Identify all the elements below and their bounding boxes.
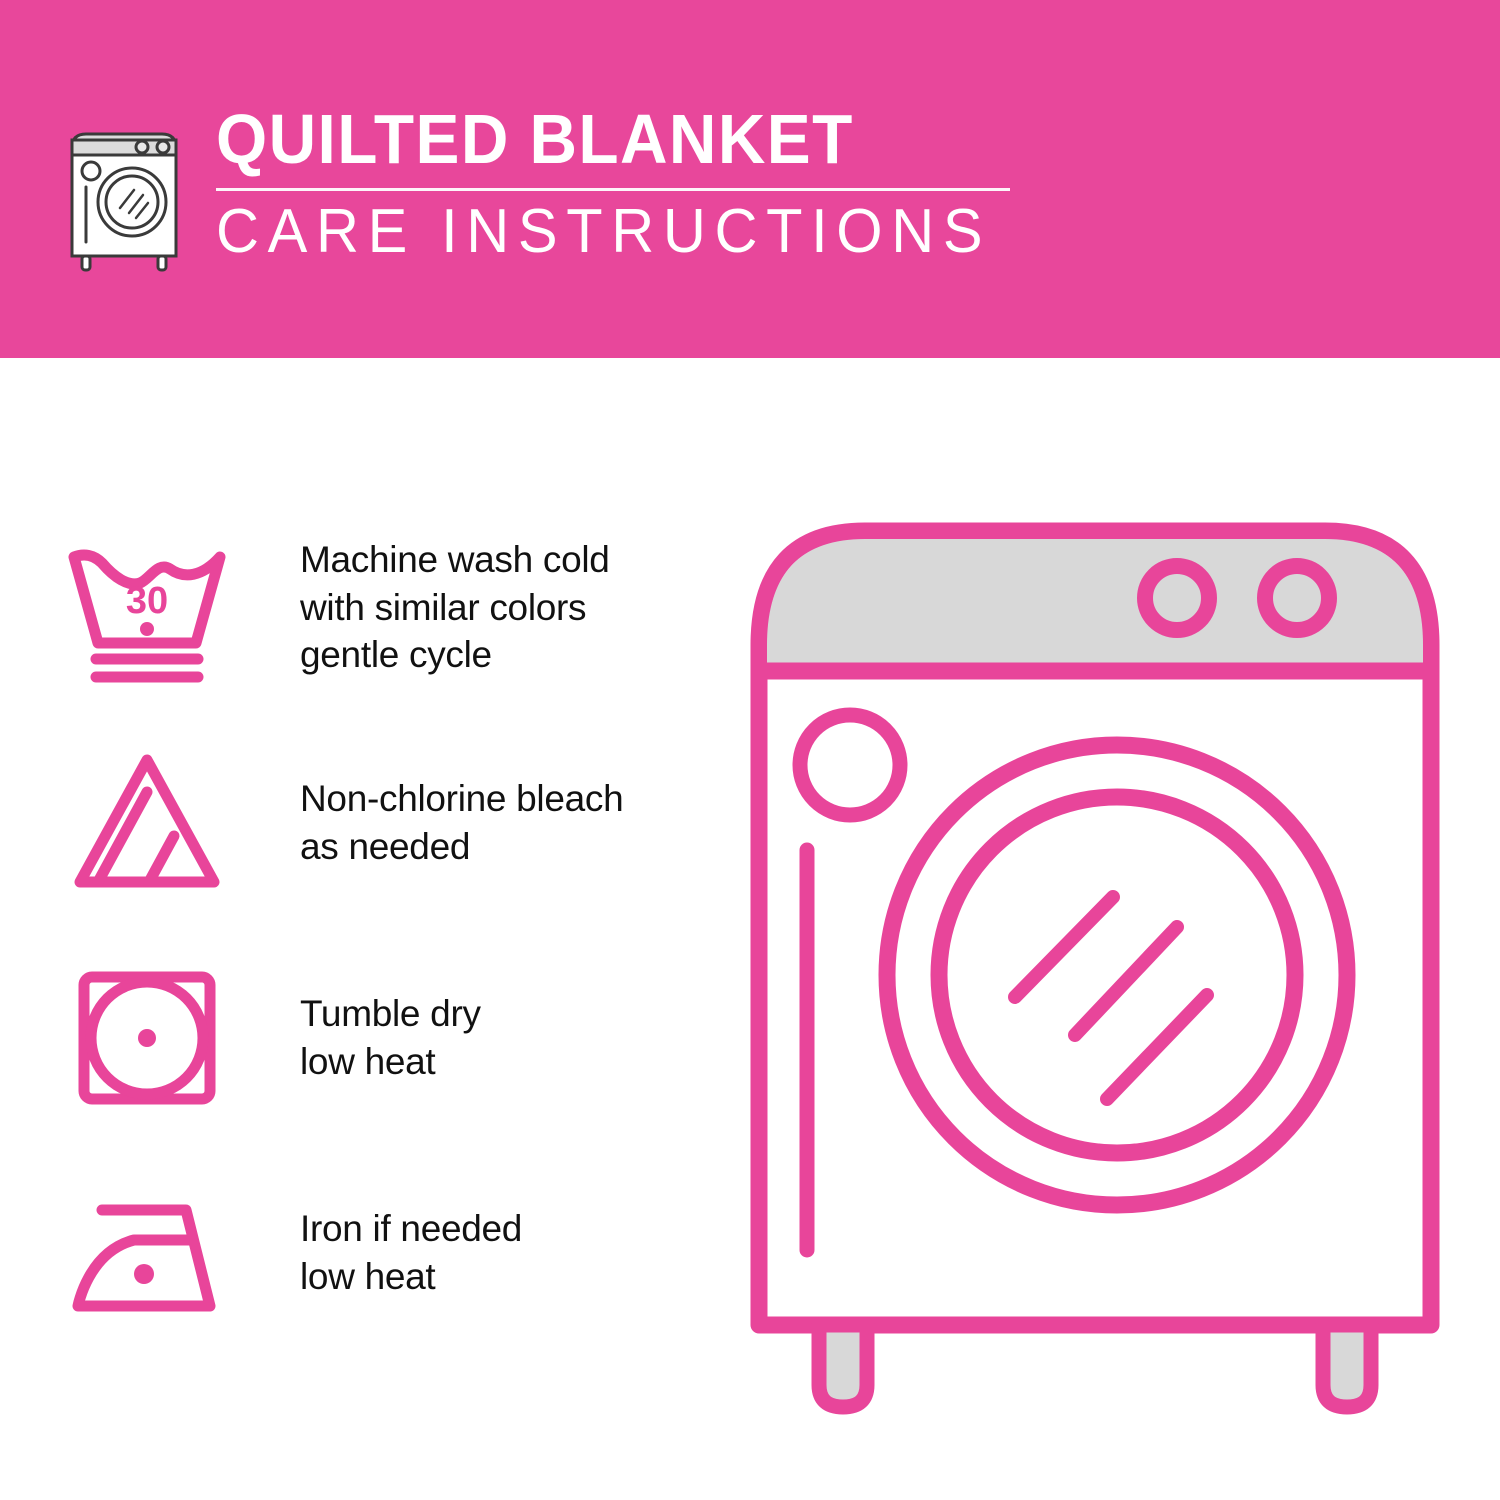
machine-leg — [1323, 1325, 1371, 1407]
instruction-text: Tumble dry low heat — [252, 990, 481, 1085]
washing-machine-icon — [64, 114, 184, 274]
wash-temperature-label: 30 — [126, 580, 168, 622]
machine-leg — [819, 1325, 867, 1407]
tumble-dry-low-heat-icon — [62, 963, 252, 1113]
wash-tub-30-gentle-icon: 30 — [62, 533, 252, 683]
page-title: QUILTED BLANKET — [216, 104, 975, 174]
instruction-line: low heat — [300, 1253, 522, 1300]
instruction-text: Machine wash cold with similar colors ge… — [252, 536, 610, 678]
instruction-text: Non-chlorine bleach as needed — [252, 775, 623, 870]
instruction-line: Machine wash cold — [300, 536, 610, 583]
header-titles: QUILTED BLANKET CARE INSTRUCTIONS — [216, 104, 1023, 263]
washing-machine-illustration — [745, 495, 1445, 1415]
list-item: Non-chlorine bleach as needed — [62, 715, 722, 930]
care-instruction-list: 30 Machine wash cold with similar colors… — [62, 500, 722, 1360]
list-item: Tumble dry low heat — [62, 930, 722, 1145]
instruction-line: Non-chlorine bleach — [300, 775, 623, 822]
instruction-line: low heat — [300, 1038, 481, 1085]
list-item: 30 Machine wash cold with similar colors… — [62, 500, 722, 715]
instruction-line: with similar colors — [300, 584, 610, 631]
header-banner: QUILTED BLANKET CARE INSTRUCTIONS — [0, 0, 1500, 358]
iron-low-heat-icon — [62, 1178, 252, 1328]
instruction-line: gentle cycle — [300, 631, 610, 678]
instruction-line: Tumble dry — [300, 990, 481, 1037]
instruction-text: Iron if needed low heat — [252, 1205, 522, 1300]
instruction-line: as needed — [300, 823, 623, 870]
header-content: QUILTED BLANKET CARE INSTRUCTIONS — [64, 104, 1023, 274]
page-subtitle: CARE INSTRUCTIONS — [216, 201, 991, 263]
instruction-line: Iron if needed — [300, 1205, 522, 1252]
list-item: Iron if needed low heat — [62, 1145, 722, 1360]
non-chlorine-bleach-triangle-icon — [62, 748, 252, 898]
title-divider — [216, 188, 1010, 191]
